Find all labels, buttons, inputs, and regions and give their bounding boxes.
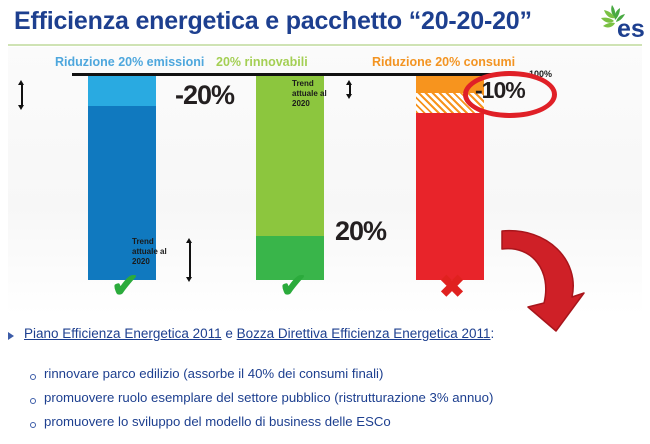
column-label-emissioni: Riduzione 20% emissioni	[55, 55, 204, 69]
callout-consumi: -10%	[475, 77, 525, 104]
bullet-suffix: :	[491, 326, 495, 341]
circle-bullet-icon	[30, 374, 36, 380]
trend-line-2: attuale al	[0, 89, 12, 99]
circle-bullet-icon	[30, 398, 36, 404]
bullet-conjunction: e	[222, 326, 237, 341]
trend-line-3: 2020	[0, 99, 12, 109]
curved-red-arrow-icon	[484, 219, 594, 339]
title-divider	[8, 44, 642, 46]
trend-line-1: Trend	[132, 237, 180, 247]
bar-emissioni-segment-gap	[88, 76, 156, 106]
column-label-consumi: Riduzione 20% consumi	[372, 55, 515, 69]
callout-rinnovabili: 20%	[335, 216, 386, 247]
dimension-arrow-icon	[345, 80, 354, 99]
circle-bullet-icon	[30, 422, 36, 428]
chart-panel: Riduzione 20% emissioni 20% rinnovabili …	[8, 47, 642, 315]
es-leaf-logo: es	[596, 2, 648, 44]
link-piano-efficienza[interactable]: Piano Efficienza Energetica 2011	[24, 326, 222, 341]
page-title: Efficienza energetica e pacchetto “20-20…	[14, 7, 532, 36]
bar-consumi-segment-actual	[416, 113, 484, 280]
triangle-bullet-icon	[8, 332, 14, 340]
logo-text: es	[617, 15, 645, 43]
link-bozza-direttiva[interactable]: Bozza Direttiva Efficienza Energetica 20…	[237, 326, 491, 341]
cross-mark-consumi: ✖	[439, 271, 465, 302]
check-mark-emissioni: ✔	[111, 269, 140, 303]
trend-line-1: Trend	[292, 79, 340, 89]
check-mark-rinnovabili: ✔	[279, 269, 308, 303]
slide-header: Efficienza energetica e pacchetto “20-20…	[0, 0, 650, 46]
list-item-label: rinnovare parco edilizio (assorbe il 40%…	[44, 366, 383, 381]
list-item-label: promuovere ruolo esemplare del settore p…	[44, 390, 493, 405]
trend-line-3: 2020	[132, 257, 180, 267]
trend-line-2: attuale al	[292, 89, 340, 99]
callout-emissioni: -20%	[175, 80, 234, 111]
list-item-label: promuovere lo sviluppo del modello di bu…	[44, 414, 391, 429]
column-label-rinnovabili: 20% rinnovabili	[216, 55, 308, 69]
dimension-arrow-icon	[185, 238, 194, 282]
trend-line-2: attuale al	[132, 247, 180, 257]
trend-line-3: 2020	[292, 99, 340, 109]
bullet-main-text: Piano Efficienza Energetica 2011 e Bozza…	[24, 326, 494, 341]
dimension-arrow-icon	[17, 80, 26, 110]
bullet-main: Piano Efficienza Energetica 2011 e Bozza…	[8, 326, 642, 346]
trend-line-1: Trend	[0, 79, 12, 89]
